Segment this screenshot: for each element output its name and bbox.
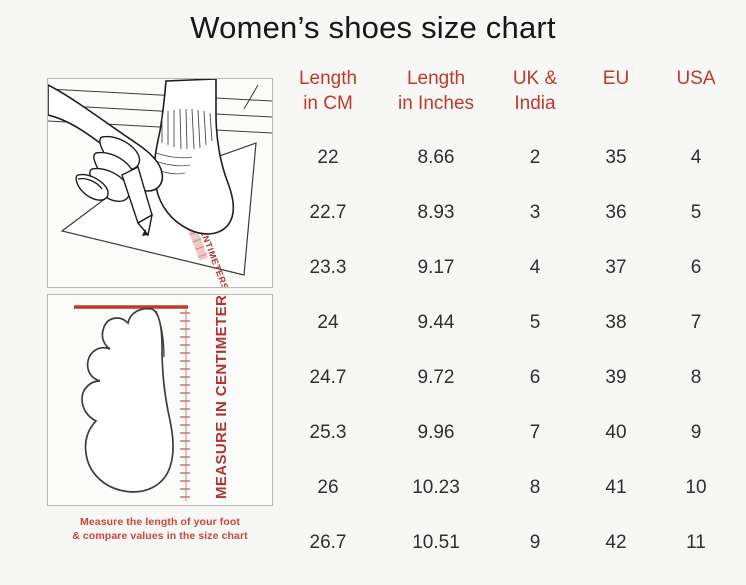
cell-eu: 41	[578, 460, 654, 515]
cell-eu: 40	[578, 405, 654, 460]
cell-usa: 11	[654, 515, 738, 570]
header-line-1: UK &	[492, 66, 578, 91]
caption-line-1: Measure the length of your foot	[80, 516, 240, 528]
cell-length-inches: 9.17	[380, 240, 492, 295]
svg-text:MEASURE IN CENTIMETERS: MEASURE IN CENTIMETERS	[213, 295, 230, 499]
cell-eu: 37	[578, 240, 654, 295]
size-chart-table: Length in CM Length in Inches UK & India…	[276, 66, 738, 570]
cell-length-cm: 22.7	[276, 185, 380, 240]
cell-length-cm: 24.7	[276, 350, 380, 405]
cell-eu: 35	[578, 130, 654, 185]
cell-length-cm: 26	[276, 460, 380, 515]
cell-length-cm: 24	[276, 295, 380, 350]
cell-length-cm: 22	[276, 130, 380, 185]
cell-usa: 9	[654, 405, 738, 460]
column-header-uk-india: UK & India	[492, 66, 578, 130]
table-row: 2610.2384110	[276, 460, 738, 515]
header-line-2: in Inches	[380, 91, 492, 116]
foot-outline-icon: MEASURE IN CENTIMETERS	[48, 295, 272, 505]
cell-length-inches: 9.72	[380, 350, 492, 405]
cell-uk-india: 3	[492, 185, 578, 240]
table-row: 25.39.967409	[276, 405, 738, 460]
illustration-panel: MEASURE IN CENTIMETERS	[47, 78, 273, 543]
column-header-usa: USA	[654, 66, 738, 130]
foot-outline-illustration: MEASURE IN CENTIMETERS	[47, 294, 273, 506]
cell-usa: 8	[654, 350, 738, 405]
table-row: 23.39.174376	[276, 240, 738, 295]
cell-usa: 7	[654, 295, 738, 350]
cell-uk-india: 6	[492, 350, 578, 405]
header-line-1: Length	[380, 66, 492, 91]
cell-usa: 6	[654, 240, 738, 295]
header-line-1: Length	[276, 66, 380, 91]
table-body: 228.66235422.78.93336523.39.174376249.44…	[276, 130, 738, 570]
table-header-row: Length in CM Length in Inches UK & India…	[276, 66, 738, 130]
header-line-1: USA	[654, 66, 738, 91]
cell-usa: 5	[654, 185, 738, 240]
cell-eu: 39	[578, 350, 654, 405]
cell-usa: 4	[654, 130, 738, 185]
cell-length-inches: 10.51	[380, 515, 492, 570]
size-chart-page: Women’s shoes size chart	[0, 0, 746, 585]
header-line-2: in CM	[276, 91, 380, 116]
cell-uk-india: 5	[492, 295, 578, 350]
measure-instruction-caption: Measure the length of your foot & compar…	[47, 515, 273, 543]
table-row: 228.662354	[276, 130, 738, 185]
header-line-1: EU	[578, 66, 654, 91]
cell-length-inches: 8.93	[380, 185, 492, 240]
tracing-foot-illustration: MEASURE IN CENTIMETERS	[47, 78, 273, 288]
cell-uk-india: 8	[492, 460, 578, 515]
cell-uk-india: 4	[492, 240, 578, 295]
cell-uk-india: 7	[492, 405, 578, 460]
column-header-length-inches: Length in Inches	[380, 66, 492, 130]
caption-line-2: & compare values in the size chart	[72, 530, 248, 542]
cell-length-inches: 9.96	[380, 405, 492, 460]
cell-eu: 38	[578, 295, 654, 350]
cell-length-inches: 8.66	[380, 130, 492, 185]
cell-length-cm: 26.7	[276, 515, 380, 570]
page-title: Women’s shoes size chart	[0, 6, 746, 50]
cell-eu: 42	[578, 515, 654, 570]
column-header-eu: EU	[578, 66, 654, 130]
column-header-length-cm: Length in CM	[276, 66, 380, 130]
cell-uk-india: 9	[492, 515, 578, 570]
table-row: 26.710.5194211	[276, 515, 738, 570]
cell-length-cm: 23.3	[276, 240, 380, 295]
cell-length-cm: 25.3	[276, 405, 380, 460]
cell-length-inches: 9.44	[380, 295, 492, 350]
tracing-foot-icon: MEASURE IN CENTIMETERS	[48, 79, 272, 287]
cell-length-inches: 10.23	[380, 460, 492, 515]
table-row: 22.78.933365	[276, 185, 738, 240]
header-line-2: India	[492, 91, 578, 116]
table-row: 249.445387	[276, 295, 738, 350]
table-row: 24.79.726398	[276, 350, 738, 405]
cell-uk-india: 2	[492, 130, 578, 185]
cell-eu: 36	[578, 185, 654, 240]
cell-usa: 10	[654, 460, 738, 515]
